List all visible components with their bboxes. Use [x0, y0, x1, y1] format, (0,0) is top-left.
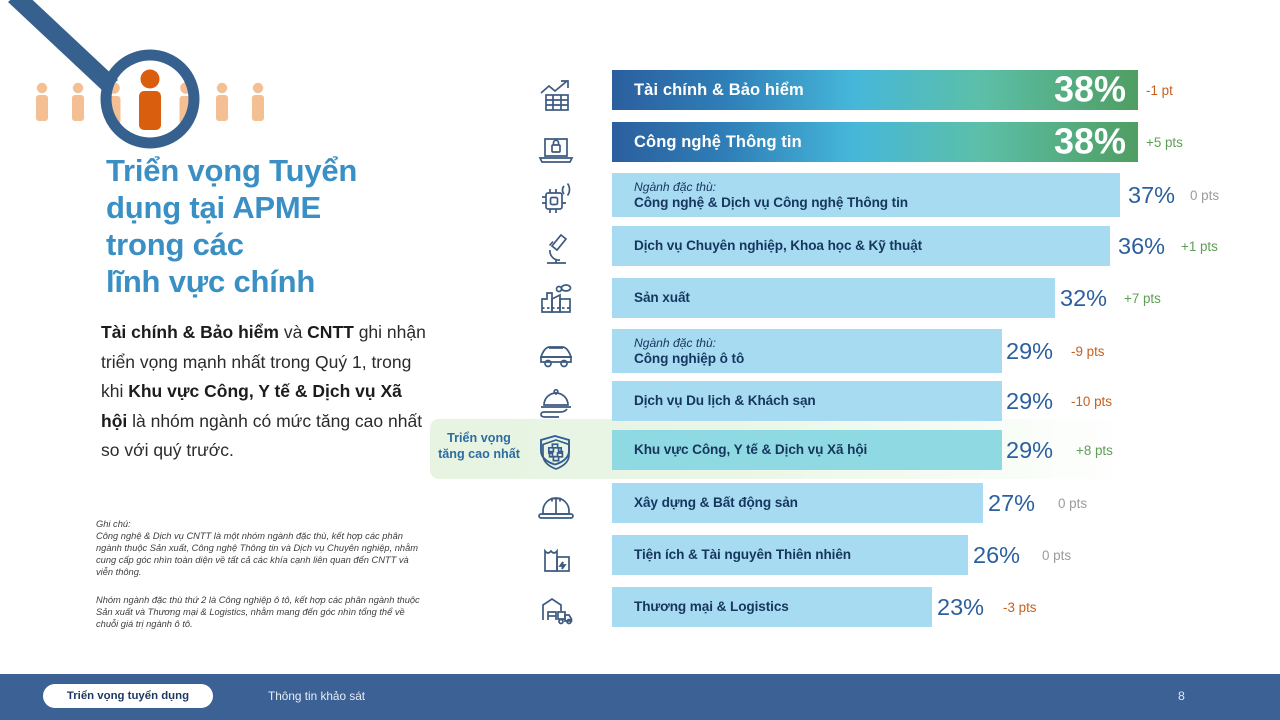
paragraph-text-6: là nhóm ngành có mức tăng cao nhất so vớ… [101, 411, 422, 461]
footnote-2-body: Nhóm ngành đặc thù thứ 2 là Công nghiệp … [96, 595, 420, 629]
bar-delta: 0 pts [1058, 497, 1087, 511]
bar-finance-insurance[interactable]: Tài chính & Bảo hiểm 38% [612, 70, 1138, 110]
chart-row[interactable]: Công nghệ Thông tin 38% +5 pts [612, 122, 1252, 162]
hard-hat-icon [536, 488, 576, 528]
chart-row[interactable]: Thương mại & Logistics 23% -3 pts [612, 587, 1252, 627]
bar-public-health-social[interactable]: Khu vực Công, Y tế & Dịch vụ Xã hội [612, 430, 1002, 470]
factory-icon [536, 280, 576, 320]
bar-value: 29% [1006, 339, 1053, 363]
bar-label: Công nghiệp ô tô [634, 351, 1002, 367]
bar-delta: 0 pts [1042, 549, 1071, 563]
bar-value: 38% [1054, 71, 1126, 107]
page-title-line-4: lĩnh vực chính [106, 263, 436, 300]
chart-row[interactable]: Tiện ích & Tài nguyên Thiên nhiên 26% 0 … [612, 535, 1252, 575]
paragraph-bold-1: Tài chính & Bảo hiểm [101, 322, 279, 342]
bar-value: 27% [988, 491, 1035, 515]
bar-it-tech-services[interactable]: Ngành đặc thù: Công nghệ & Dịch vụ Công … [612, 173, 1120, 217]
paragraph-text-2: và [279, 322, 307, 342]
page-title: Triển vọng Tuyển dụng tại APME trong các… [106, 152, 436, 300]
chart-row[interactable]: Xây dựng & Bất động sản 27% 0 pts [612, 483, 1252, 523]
bar-delta: -9 pts [1071, 345, 1105, 359]
bar-sublabel: Ngành đặc thù: [634, 336, 1002, 350]
bar-delta: +8 pts [1076, 444, 1113, 458]
bar-label: Dịch vụ Du lịch & Khách sạn [634, 393, 1002, 409]
chart-row[interactable]: Ngành đặc thù: Công nghiệp ô tô 29% -9 p… [612, 329, 1252, 373]
bar-delta: +5 pts [1146, 136, 1183, 150]
bar-label: Khu vực Công, Y tế & Dịch vụ Xã hội [634, 442, 1002, 458]
microchip-wireless-icon [536, 180, 576, 220]
car-icon [536, 334, 576, 374]
page-title-line-2: dụng tại APME [106, 189, 436, 226]
bar-value: 23% [937, 595, 984, 619]
bar-delta: +7 pts [1124, 292, 1161, 306]
warehouse-truck-icon [536, 590, 576, 630]
highest-increase-label: Triển vọng tăng cao nhất [436, 430, 522, 462]
bar-value: 32% [1060, 286, 1107, 310]
bar-sublabel: Ngành đặc thù: [634, 180, 1120, 194]
chart-row[interactable]: Ngành đặc thù: Công nghệ & Dịch vụ Công … [612, 173, 1252, 217]
bar-delta: 0 pts [1190, 189, 1219, 203]
magnifier-person-highlight-icon [139, 70, 161, 131]
magnifier-handle-icon [8, 0, 118, 92]
bar-label: Thương mại & Logistics [634, 599, 932, 615]
bar-manufacturing[interactable]: Sản xuất [612, 278, 1055, 318]
bar-value: 37% [1128, 183, 1175, 207]
bar-delta: -3 pts [1003, 601, 1037, 615]
footer-bar: Triển vọng tuyển dụng Thông tin khảo sát… [0, 674, 1280, 720]
microscope-icon [536, 229, 576, 269]
chart-row[interactable]: Tài chính & Bảo hiểm 38% -1 pt [612, 70, 1252, 110]
bar-delta: -1 pt [1146, 84, 1173, 98]
footnote-1: Ghi chú: Công nghệ & Dịch vụ CNTT là một… [96, 518, 426, 578]
footnote-2: Nhóm ngành đặc thù thứ 2 là Công nghiệp … [96, 594, 426, 630]
food-service-dome-icon [536, 384, 576, 424]
bar-label: Công nghệ & Dịch vụ Công nghệ Thông tin [634, 195, 1120, 211]
bar-value: 36% [1118, 234, 1165, 258]
chart-row[interactable]: Sản xuất 32% +7 pts [612, 278, 1252, 318]
tab-employment-outlook[interactable]: Triển vọng tuyển dụng [43, 684, 213, 708]
bar-value: 38% [1054, 123, 1126, 159]
laptop-lock-icon [536, 128, 576, 168]
finance-chart-icon [536, 76, 576, 116]
bar-value: 26% [973, 543, 1020, 567]
bar-label: Xây dựng & Bất động sản [634, 495, 983, 511]
bar-value: 29% [1006, 389, 1053, 413]
bar-construction-realestate[interactable]: Xây dựng & Bất động sản [612, 483, 983, 523]
footnote-1-body: Công nghệ & Dịch vụ CNTT là một nhóm ngà… [96, 531, 418, 577]
summary-paragraph: Tài chính & Bảo hiểm và CNTT ghi nhận tr… [101, 318, 431, 466]
hero-magnifier-graphic [0, 0, 300, 150]
bar-delta: +1 pts [1181, 240, 1218, 254]
page-title-line-3: trong các [106, 226, 436, 263]
shield-medical-cross-icon [536, 435, 576, 475]
utilities-plant-icon [536, 538, 576, 578]
bar-label: Tiện ích & Tài nguyên Thiên nhiên [634, 547, 968, 563]
bar-value: 29% [1006, 438, 1053, 462]
bar-hospitality-leisure[interactable]: Dịch vụ Du lịch & Khách sạn [612, 381, 1002, 421]
page-number: 8 [1178, 689, 1185, 703]
footnote-1-heading: Ghi chú: [96, 518, 426, 530]
chart-row[interactable]: Dịch vụ Du lịch & Khách sạn 29% -10 pts [612, 381, 1252, 421]
page-title-line-1: Triển vọng Tuyển [106, 152, 436, 189]
bar-delta: -10 pts [1071, 395, 1112, 409]
bar-utilities-resources[interactable]: Tiện ích & Tài nguyên Thiên nhiên [612, 535, 968, 575]
chart-row[interactable]: Dịch vụ Chuyên nghiệp, Khoa học & Kỹ thu… [612, 226, 1252, 266]
bar-information-technology[interactable]: Công nghệ Thông tin 38% [612, 122, 1138, 162]
highest-increase-label-line-1: Triển vọng [447, 431, 511, 445]
bar-label: Dịch vụ Chuyên nghiệp, Khoa học & Kỹ thu… [634, 238, 1110, 254]
chart-row[interactable]: Khu vực Công, Y tế & Dịch vụ Xã hội 29% … [612, 430, 1252, 470]
bar-professional-services[interactable]: Dịch vụ Chuyên nghiệp, Khoa học & Kỹ thu… [612, 226, 1110, 266]
highest-increase-label-line-2: tăng cao nhất [438, 447, 520, 461]
paragraph-bold-3: CNTT [307, 322, 354, 342]
bar-label: Sản xuất [634, 290, 1055, 306]
bar-trade-logistics[interactable]: Thương mại & Logistics [612, 587, 932, 627]
tab-survey-info[interactable]: Thông tin khảo sát [268, 689, 365, 703]
bar-automotive[interactable]: Ngành đặc thù: Công nghiệp ô tô [612, 329, 1002, 373]
